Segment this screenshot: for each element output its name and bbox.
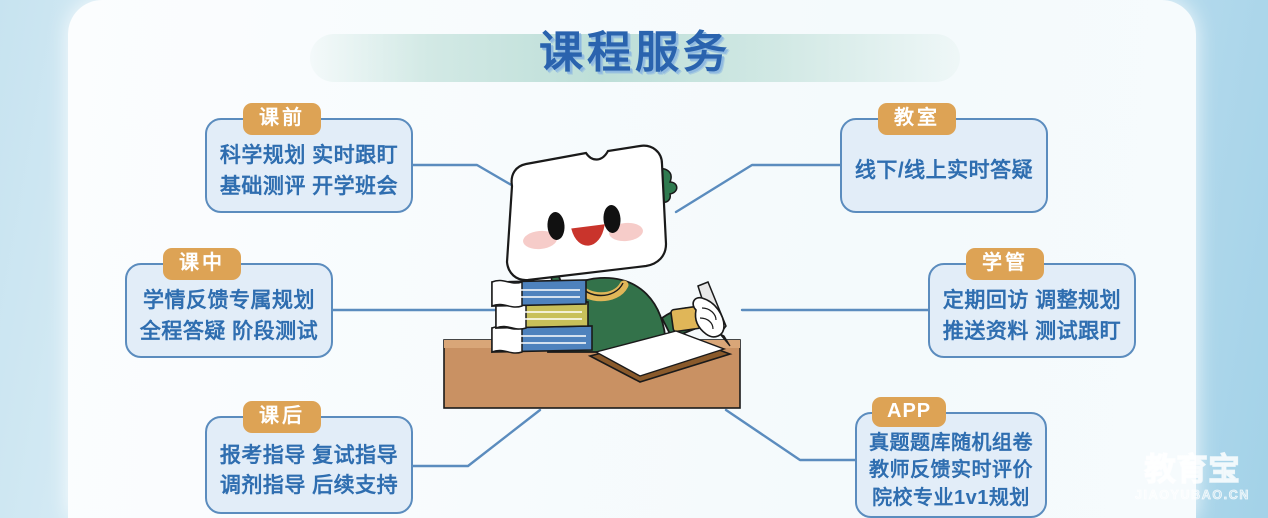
card-body-after-class: 报考指导 复试指导 调剂指导 后续支持: [207, 418, 411, 512]
card-line: 全程答疑 阶段测试: [140, 317, 318, 347]
mascot-right-hand-pencil: [693, 282, 730, 346]
card-line: 学情反馈专属规划: [143, 286, 315, 316]
card-line: 调剂指导 后续支持: [220, 471, 398, 501]
card-body-study-manager: 定期回访 调整规划 推送资料 测试跟盯: [930, 265, 1134, 356]
card-body-pre-class: 科学规划 实时跟盯 基础测评 开学班会: [207, 120, 411, 211]
card-line: 科学规划 实时跟盯: [220, 141, 398, 171]
card-line: 院校专业1v1规划: [872, 485, 1030, 513]
card-line: 报考指导 复试指导: [220, 441, 398, 471]
card-line: 教师反馈实时评价: [869, 457, 1033, 485]
mascot-head: [507, 146, 677, 280]
card-line: 真题题库随机组卷: [869, 430, 1033, 458]
infographic-stage: 课程服务: [0, 0, 1268, 518]
student-mascot-illustration: [440, 140, 760, 430]
card-body-classroom: 线下/线上实时答疑: [842, 120, 1046, 211]
page-title: 课程服务: [310, 22, 960, 84]
card-line: 基础测评 开学班会: [220, 172, 398, 202]
card-line: 线下/线上实时答疑: [855, 156, 1033, 186]
book-stack: [492, 280, 592, 353]
card-line: 定期回访 调整规划: [943, 286, 1121, 316]
card-classroom[interactable]: 教室 线下/线上实时答疑: [840, 118, 1048, 213]
card-after-class[interactable]: 课后 报考指导 复试指导 调剂指导 后续支持: [205, 416, 413, 514]
page-title-wrap: 课程服务: [310, 22, 960, 82]
card-body-app: 真题题库随机组卷 教师反馈实时评价 院校专业1v1规划: [857, 414, 1045, 516]
card-line: 推送资料 测试跟盯: [943, 317, 1121, 347]
card-study-manager[interactable]: 学管 定期回访 调整规划 推送资料 测试跟盯: [928, 263, 1136, 358]
card-body-in-class: 学情反馈专属规划 全程答疑 阶段测试: [127, 265, 331, 356]
card-pre-class[interactable]: 课前 科学规划 实时跟盯 基础测评 开学班会: [205, 118, 413, 213]
card-in-class[interactable]: 课中 学情反馈专属规划 全程答疑 阶段测试: [125, 263, 333, 358]
card-app[interactable]: APP 真题题库随机组卷 教师反馈实时评价 院校专业1v1规划: [855, 412, 1047, 518]
